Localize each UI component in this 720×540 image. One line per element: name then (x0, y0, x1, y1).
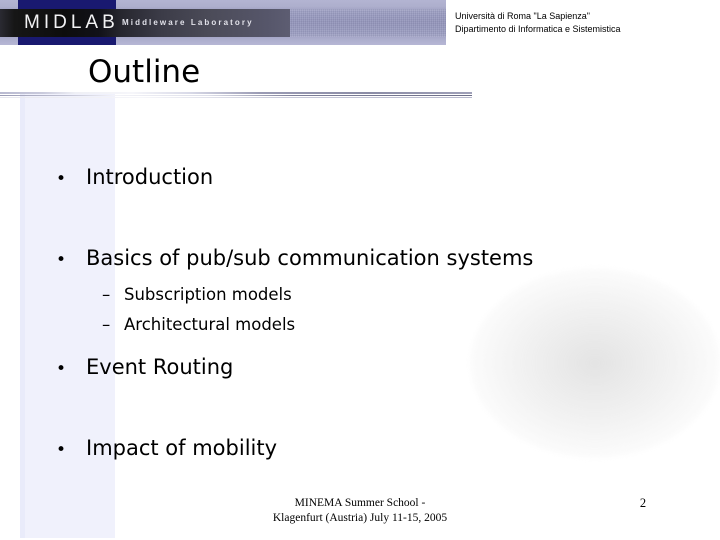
bullet-marker-icon: • (56, 356, 86, 382)
sub-bullet-item: –Architectural models (102, 314, 295, 336)
presentation-slide: MIDLAB Middleware Laboratory Università … (0, 0, 720, 540)
bullet-item: •Basics of pub/sub communication systems (56, 245, 533, 273)
slide-page-number: 2 (628, 496, 658, 511)
sub-bullet-marker-icon: – (102, 284, 124, 306)
sub-bullet-marker-icon: – (102, 314, 124, 336)
bullet-marker-icon: • (56, 166, 86, 192)
sub-bullet-label: Architectural models (124, 315, 295, 334)
slide-body: •Introduction •Basics of pub/sub communi… (0, 0, 720, 540)
slide-footer: MINEMA Summer School - Klagenfurt (Austr… (195, 496, 525, 526)
bullet-item: •Event Routing (56, 354, 233, 382)
sub-bullet-item: –Subscription models (102, 284, 292, 306)
sub-bullet-label: Subscription models (124, 285, 292, 304)
bullet-label: Impact of mobility (86, 436, 277, 460)
bullet-item: •Impact of mobility (56, 435, 277, 463)
bullet-label: Event Routing (86, 355, 233, 379)
footer-line-1: MINEMA Summer School - (195, 496, 525, 511)
bullet-item: •Introduction (56, 164, 213, 192)
bullet-marker-icon: • (56, 247, 86, 273)
bullet-label: Introduction (86, 165, 213, 189)
footer-line-2: Klagenfurt (Austria) July 11-15, 2005 (195, 511, 525, 526)
bullet-label: Basics of pub/sub communication systems (86, 246, 533, 270)
bullet-marker-icon: • (56, 437, 86, 463)
